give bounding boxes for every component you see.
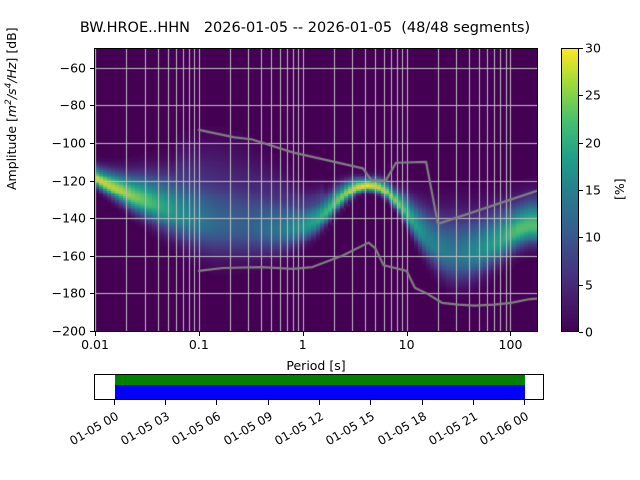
y-tick-label: −160: [30, 248, 86, 263]
y-axis-label-suffix: ] [dB]: [4, 27, 19, 62]
timeline-tick-mark: [473, 400, 474, 405]
colorbar-tick-label: 15: [585, 183, 601, 198]
timeline-tick-label: 01-05 21: [419, 409, 480, 452]
timeline-tick-label: 01-05 00: [60, 409, 121, 452]
y-axis-label-math: m2/s4/Hz: [4, 63, 19, 118]
y-tick-label: −100: [30, 136, 86, 151]
y-tick-label: −120: [30, 173, 86, 188]
data-coverage-timeline[interactable]: [94, 374, 544, 400]
colorbar-tick-label: 5: [585, 277, 593, 292]
x-tick-mark: [303, 332, 304, 336]
timeline-tick-label: 01-05 12: [265, 409, 326, 452]
timeline-tick-mark: [524, 400, 525, 405]
noise-model-curves: [95, 49, 537, 331]
ppsd-figure: BW.HROE..HHN 2026-01-05 -- 2026-01-05 (4…: [0, 0, 640, 480]
timeline-tick-mark: [370, 400, 371, 405]
colorbar-tick-mark: [579, 48, 583, 49]
timeline-tick-mark: [216, 400, 217, 405]
x-tick-label: 0.01: [81, 337, 109, 352]
x-tick-label: 100: [499, 337, 523, 352]
timeline-tick-label: 01-05 18: [368, 409, 429, 452]
x-tick-label: 10: [399, 337, 415, 352]
y-axis-label-prefix: Amplitude [: [4, 117, 19, 190]
colorbar-tick-label: 10: [585, 230, 601, 245]
y-axis-label: Amplitude [m2/s4/Hz] [dB]: [4, 27, 19, 190]
timeline-tick-label: 01-05 06: [163, 409, 224, 452]
colorbar-tick-label: 30: [585, 41, 601, 56]
colorbar-tick-mark: [579, 143, 583, 144]
x-tick-mark: [407, 332, 408, 336]
timeline-coverage-bar: [115, 385, 525, 399]
colorbar-tick-mark: [579, 190, 583, 191]
colorbar-tick-label: 25: [585, 88, 601, 103]
ppsd-plot-area[interactable]: [94, 48, 538, 332]
timeline-tick-mark: [268, 400, 269, 405]
colorbar-tick-mark: [579, 95, 583, 96]
timeline-tick-mark: [319, 400, 320, 405]
colorbar-tick-label: 20: [585, 135, 601, 150]
timeline-data-bar: [115, 375, 525, 385]
timeline-tick-mark: [422, 400, 423, 405]
colorbar-tick-mark: [579, 285, 583, 286]
y-tick-label: −140: [30, 211, 86, 226]
y-tick-label: −60: [30, 60, 86, 75]
timeline-tick-label: 01-05 15: [317, 409, 378, 452]
x-tick-mark: [95, 332, 96, 336]
y-tick-label: −180: [30, 286, 86, 301]
colorbar-tick-label: 0: [585, 325, 593, 340]
x-axis-label: Period [s]: [94, 358, 538, 373]
timeline-tick-label: 01-06 00: [470, 409, 531, 452]
plot-title: BW.HROE..HHN 2026-01-05 -- 2026-01-05 (4…: [0, 20, 610, 36]
y-tick-label: −80: [30, 98, 86, 113]
timeline-tick-label: 01-05 09: [214, 409, 275, 452]
x-tick-mark: [199, 332, 200, 336]
colorbar-tick-mark: [579, 332, 583, 333]
timeline-tick-mark: [114, 400, 115, 405]
y-tick-label: −200: [30, 324, 86, 339]
x-tick-label: 1: [299, 337, 307, 352]
timeline-tick-mark: [165, 400, 166, 405]
colorbar-label: [%]: [612, 178, 627, 200]
x-tick-label: 0.1: [189, 337, 209, 352]
colorbar-tick-mark: [579, 237, 583, 238]
colorbar: [561, 48, 579, 332]
timeline-tick-label: 01-05 03: [112, 409, 173, 452]
x-tick-mark: [510, 332, 511, 336]
